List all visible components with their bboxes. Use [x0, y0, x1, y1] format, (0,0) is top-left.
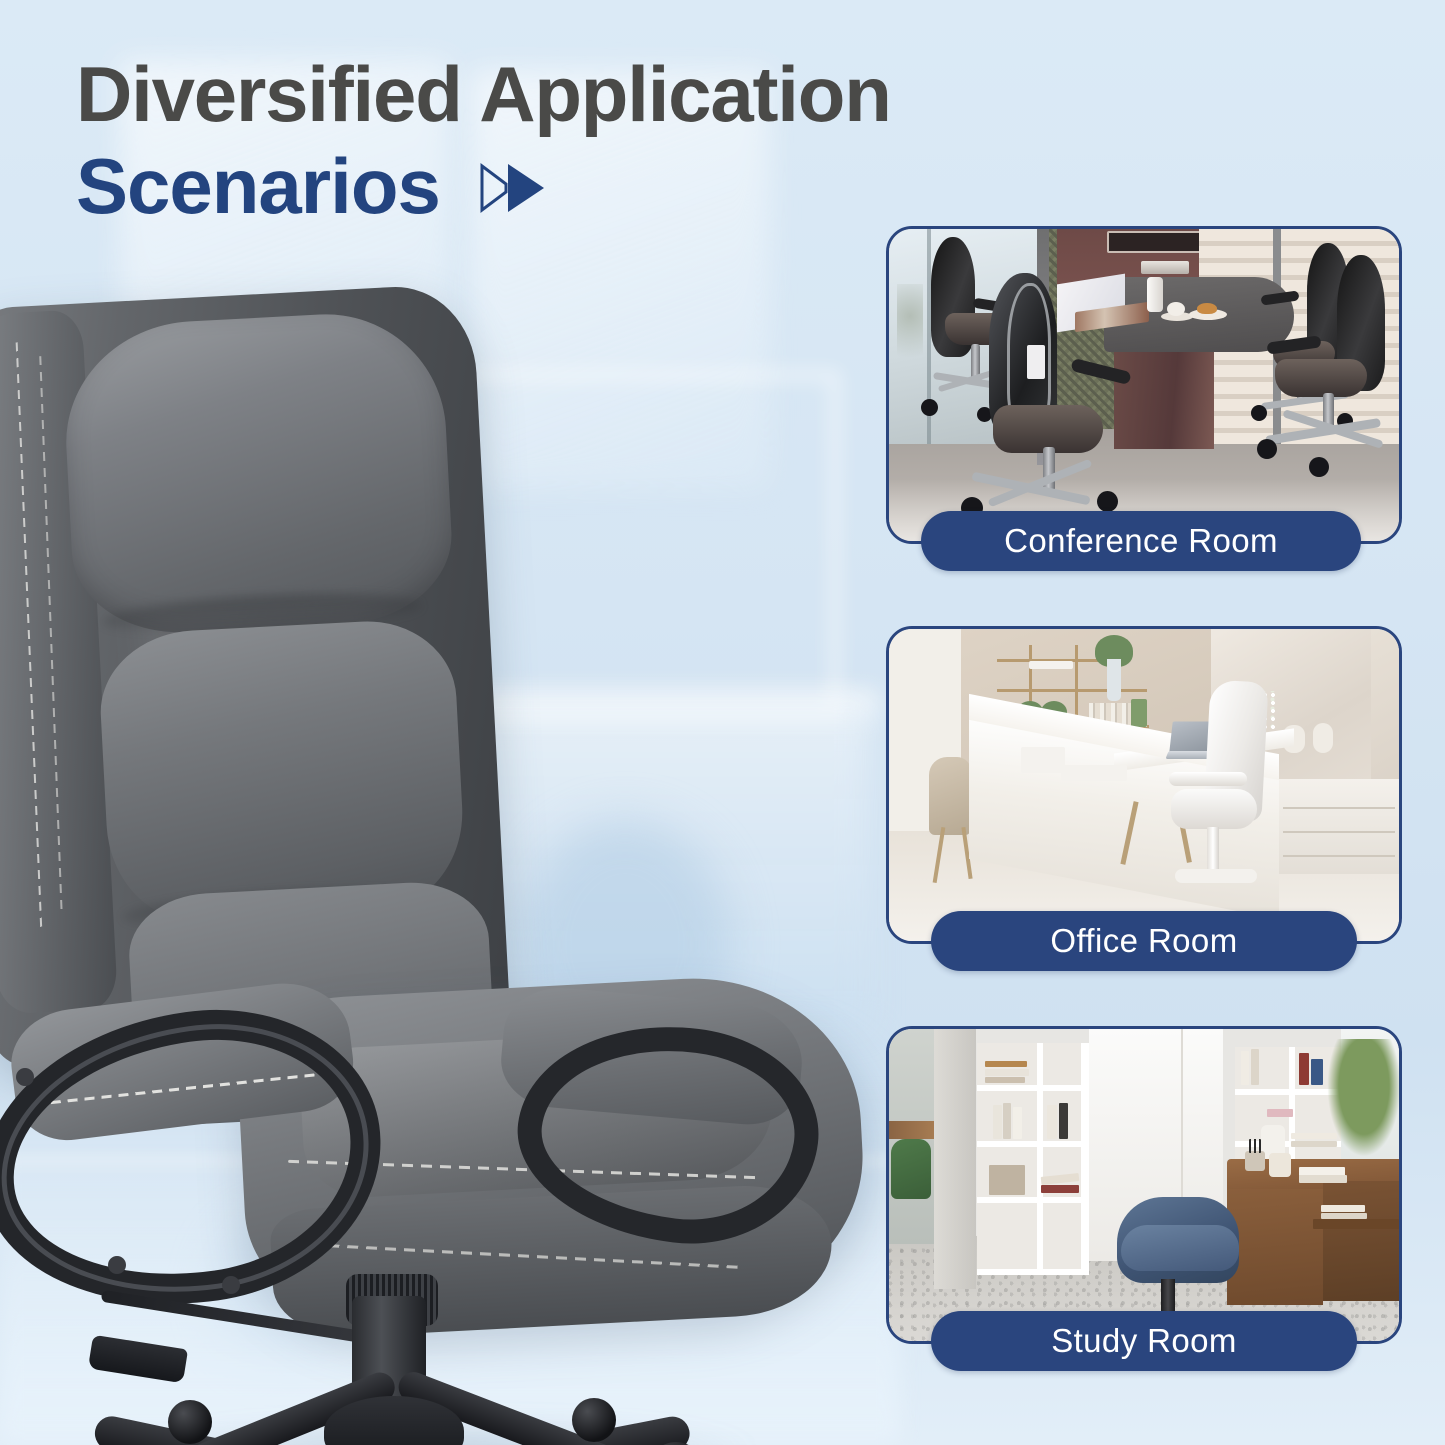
armrest-bolt-top [16, 1068, 34, 1086]
glass-vase [1107, 659, 1121, 701]
left-shelf-4 [977, 1269, 1089, 1275]
caster-wheel-back-left [168, 1400, 212, 1444]
desk-shelf-book-a [1321, 1205, 1365, 1212]
book-d [993, 1105, 1002, 1139]
scenario-badge-study-room[interactable]: Study Room [931, 1311, 1357, 1371]
book-m [1267, 1109, 1293, 1117]
pastry [1197, 303, 1217, 314]
decor-vase-b [1313, 723, 1333, 753]
book-g [1047, 1105, 1057, 1139]
headline-line-2-row: Scenarios [76, 147, 836, 225]
book-red [1041, 1185, 1079, 1193]
credenza-line-3 [1283, 855, 1395, 857]
credenza-line-2 [1283, 831, 1395, 833]
chair-lumbar-cushion [97, 617, 468, 925]
height-lever-grip[interactable] [88, 1335, 188, 1384]
study-room-scene [889, 1029, 1399, 1341]
shelf-green-book [1131, 699, 1147, 727]
book-a [985, 1061, 1027, 1067]
shelf-bar-2 [997, 689, 1147, 692]
white-chair-gas-lift [1207, 827, 1219, 875]
double-triangle-play-icon [476, 158, 548, 223]
left-shelf-divider [1037, 1043, 1043, 1275]
desk-shelf-board [1313, 1219, 1399, 1229]
office-room-scene [889, 629, 1399, 941]
left-shelf-side [1081, 1043, 1089, 1275]
office-side-chair [929, 757, 971, 835]
pens [1249, 1139, 1261, 1153]
desk-document [1061, 765, 1127, 781]
office-credenza [1279, 779, 1399, 874]
book-c [985, 1077, 1025, 1083]
pen-holder [1245, 1151, 1265, 1171]
book-k [1299, 1053, 1309, 1085]
headline-line-1: Diversified Application [76, 55, 836, 133]
credenza-line-1 [1283, 807, 1395, 809]
book-i [1241, 1051, 1249, 1085]
white-chair-armrest [1169, 772, 1247, 786]
study-plant [1327, 1039, 1399, 1157]
caster-wheel-back-right [572, 1398, 616, 1442]
white-chair-base [1175, 869, 1257, 883]
headline-block: Diversified Application Scenarios [76, 55, 836, 225]
desk-book-stack-b [1299, 1175, 1347, 1183]
book-e [1003, 1103, 1011, 1139]
book-b [985, 1069, 1029, 1076]
headline-line-2: Scenarios [76, 147, 440, 225]
shelf-book-stack [1029, 661, 1073, 669]
blue-study-chair-seat [1121, 1225, 1239, 1271]
scenario-photo-study-room [889, 1029, 1399, 1341]
study-desk-side [1227, 1189, 1323, 1305]
left-shelf-2 [977, 1141, 1089, 1147]
book-l [1311, 1059, 1323, 1085]
scenario-photo-office-room [889, 629, 1399, 941]
scenario-badge-conference-room[interactable]: Conference Room [921, 511, 1361, 571]
adjacent-desk [889, 1121, 937, 1139]
study-desk-body [1323, 1181, 1399, 1301]
hero-office-chair [0, 296, 872, 1445]
scenario-badge-office-room[interactable]: Office Room [931, 911, 1357, 971]
table-power-module [1141, 261, 1189, 274]
book-j [1251, 1049, 1259, 1085]
water-bottle [1147, 277, 1163, 312]
conference-room-scene [889, 229, 1399, 541]
poster-canvas: Diversified Application Scenarios [0, 0, 1445, 1445]
scenario-card-study-room[interactable]: Study Room [886, 1026, 1402, 1344]
scenario-card-conference-room[interactable]: Conference Room [886, 226, 1402, 544]
left-shelf-1 [977, 1085, 1089, 1091]
scenario-photo-column: Conference Room [886, 226, 1400, 1344]
desk-shelf-book-b [1321, 1213, 1367, 1219]
coffee-cup [1167, 302, 1185, 316]
armrest-bolt-mid [108, 1256, 126, 1274]
study-pillar [934, 1029, 976, 1289]
armrest-bolt-bottom [222, 1276, 240, 1294]
outdoor-tree [897, 284, 923, 376]
scenario-card-office-room[interactable]: Office Room [886, 626, 1402, 944]
scenario-photo-conference-room [889, 229, 1399, 541]
book-h [1059, 1103, 1068, 1139]
chair-headrest-cushion [60, 308, 456, 637]
left-shelf-3 [977, 1197, 1089, 1203]
white-chair-seat [1171, 789, 1257, 829]
desk-vase [1269, 1153, 1291, 1177]
laptop-screen [1169, 721, 1212, 753]
book-f [1013, 1107, 1022, 1139]
desk-paper-tray [1021, 747, 1065, 773]
green-visitor-chair [891, 1139, 931, 1199]
book-box-a [989, 1165, 1025, 1195]
